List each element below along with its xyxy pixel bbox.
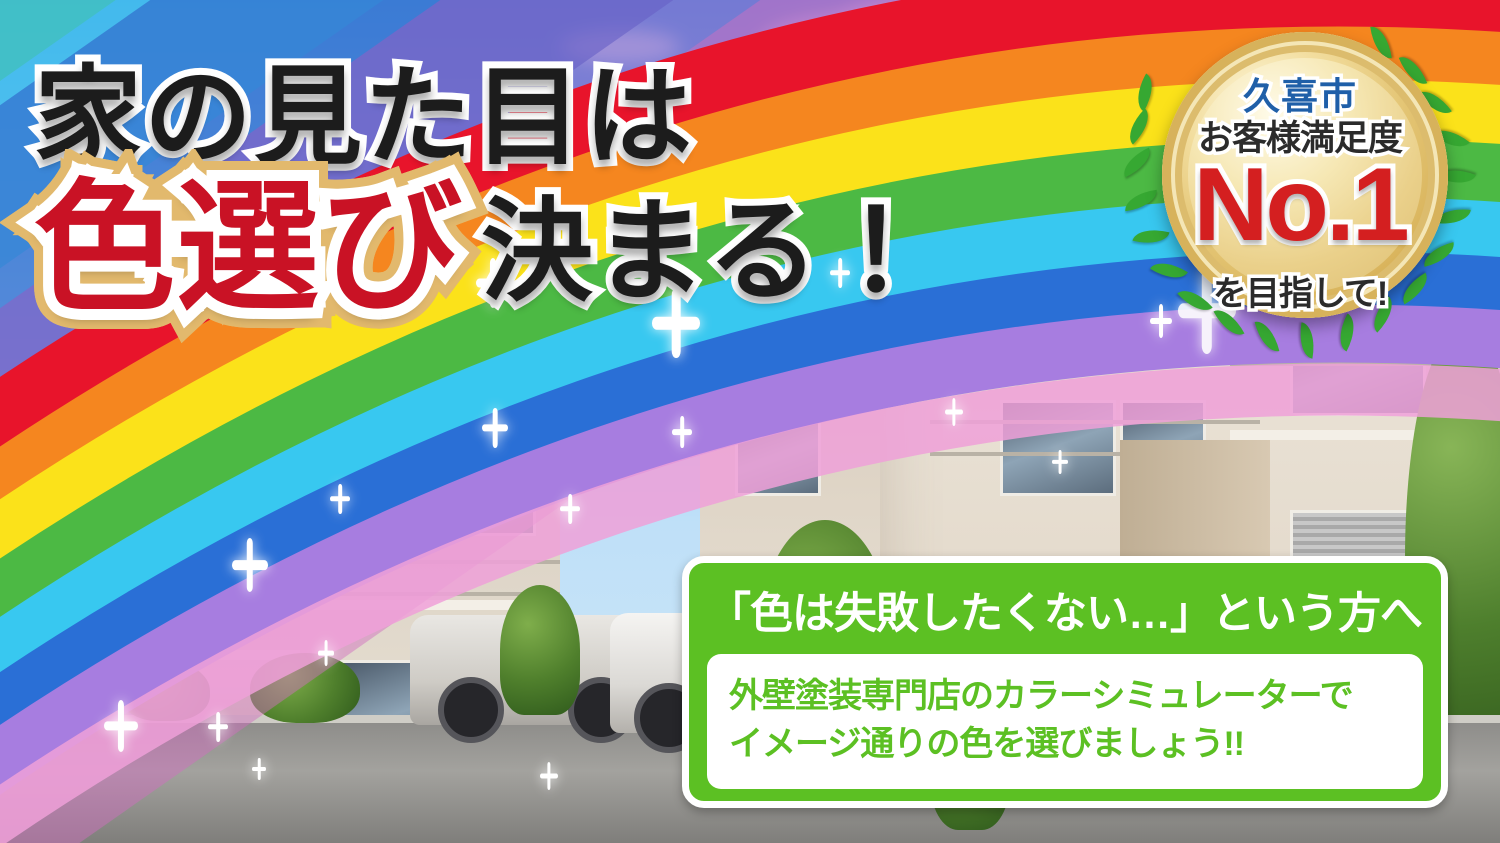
promo-banner: 家の見た目は 色選び 決まる！	[0, 0, 1500, 843]
house-window	[460, 445, 536, 536]
headline-block: 家の見た目は 色選び 決まる！	[34, 62, 933, 320]
tree-icon	[250, 653, 360, 723]
house-window	[170, 540, 256, 616]
cta-heading: 「色は失敗したくない…」という方へ	[689, 579, 1441, 641]
badge-rank-label: No.1	[1140, 146, 1460, 265]
house-window	[735, 420, 821, 496]
cta-panel[interactable]: 「色は失敗したくない…」という方へ 外壁塗装専門店のカラーシミュレーターで イメ…	[682, 556, 1448, 808]
car-wheel	[438, 677, 504, 743]
headline-line-1: 家の見た目は	[34, 62, 933, 172]
house-window	[960, 320, 1006, 381]
headline-color-choice: 色選び	[34, 178, 463, 320]
tree-icon	[120, 661, 210, 721]
headline-line-2: 色選び 決まる！	[34, 178, 933, 320]
cta-inner-box: 外壁塗装専門店のカラーシミュレーターで イメージ通りの色を選びましょう!!	[707, 654, 1423, 789]
headline-decided: 決まる！	[481, 196, 933, 308]
no1-badge: 久喜市 お客様満足度 No.1 を目指して!	[1140, 22, 1460, 342]
cta-line-2: イメージ通りの色を選びましょう!!	[729, 720, 1411, 768]
house-window	[330, 440, 446, 536]
house-window	[40, 540, 146, 616]
balcony-rail	[300, 560, 560, 596]
badge-aim-label: を目指して!	[1140, 266, 1460, 315]
tree-icon	[500, 585, 580, 715]
cta-line-1: 外壁塗装専門店のカラーシミュレーターで	[729, 672, 1411, 720]
